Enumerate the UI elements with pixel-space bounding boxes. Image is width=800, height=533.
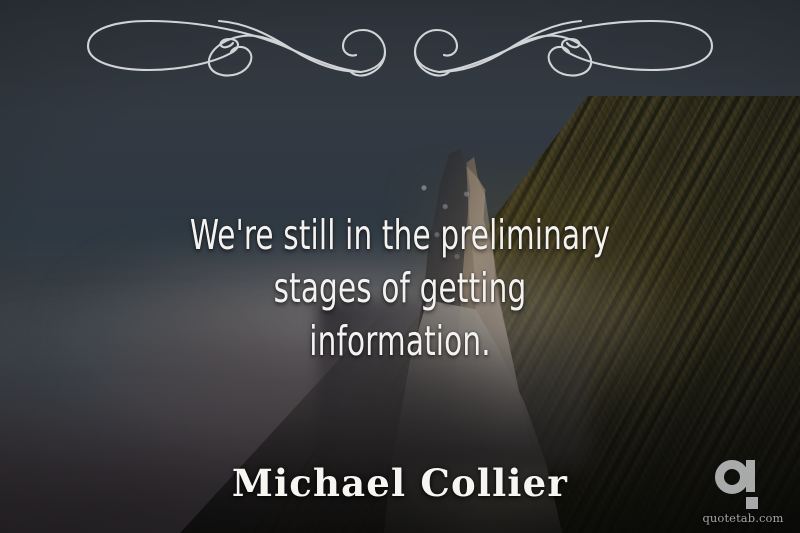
- watermark-site-label: quotetab.com: [702, 511, 784, 525]
- quote-image-card: We're still in the preliminary stages of…: [0, 0, 800, 533]
- logo-dot: [746, 497, 758, 509]
- logo-stem: [746, 460, 755, 492]
- quote-text: We're still in the preliminary stages of…: [80, 209, 720, 368]
- watermark[interactable]: quotetab.com: [702, 459, 784, 525]
- quotetab-logo-icon: [713, 459, 773, 509]
- flourish-ornament-icon: [79, 12, 721, 80]
- quote-author: Michael Collier: [0, 461, 800, 505]
- logo-ring: [715, 460, 749, 494]
